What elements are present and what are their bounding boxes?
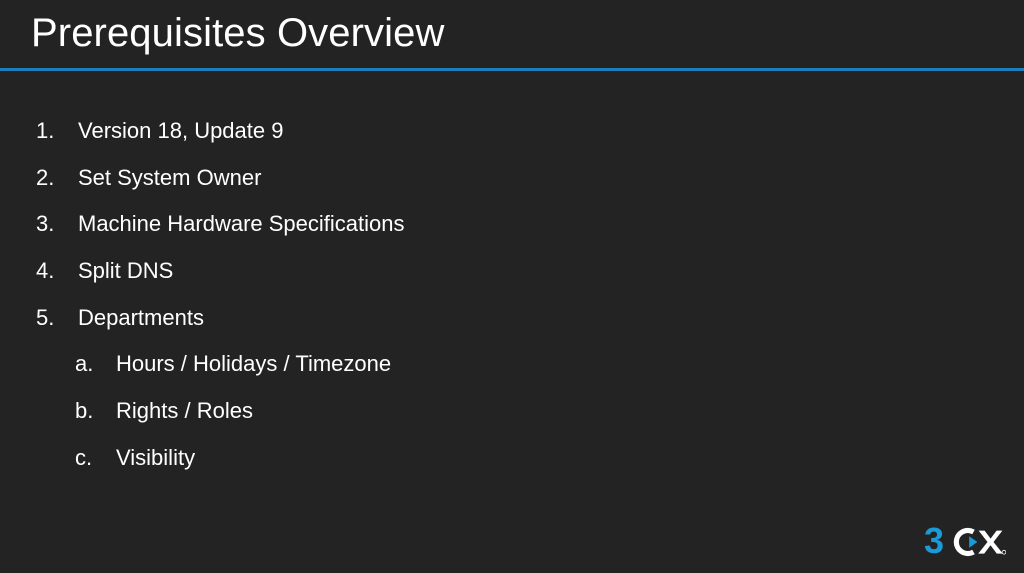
list-item-label: Set System Owner	[78, 165, 261, 191]
list-item-label: Visibility	[116, 445, 195, 471]
list-item-label: Departments	[78, 305, 204, 331]
list-item: 5. Departments	[0, 305, 1024, 352]
list-item-label: Machine Hardware Specifications	[78, 211, 405, 237]
list-item-marker: 2.	[36, 165, 78, 191]
list-item-marker: 5.	[36, 305, 78, 331]
list-item-label: Version 18, Update 9	[78, 118, 283, 144]
list-item: a. Hours / Holidays / Timezone	[0, 351, 1024, 398]
list-item: 1. Version 18, Update 9	[0, 118, 1024, 165]
list-item-marker: 4.	[36, 258, 78, 284]
list-item: c. Visibility	[0, 445, 1024, 492]
list-item-marker: a.	[75, 351, 116, 377]
3cx-logo: 3 3 C X ®	[924, 521, 1006, 561]
list-item-label: Rights / Roles	[116, 398, 253, 424]
title-divider	[0, 68, 1024, 71]
list-item: b. Rights / Roles	[0, 398, 1024, 445]
list-item-marker: b.	[75, 398, 116, 424]
list-item-marker: 1.	[36, 118, 78, 144]
logo-arrow-icon	[969, 536, 977, 548]
logo-letter-x	[978, 531, 1003, 554]
prerequisites-list: 1. Version 18, Update 9 2. Set System Ow…	[0, 118, 1024, 492]
list-item: 2. Set System Owner	[0, 165, 1024, 212]
3cx-logo-icon: 3	[924, 523, 1006, 561]
logo-digit-3: 3	[924, 523, 944, 561]
list-item: 3. Machine Hardware Specifications	[0, 211, 1024, 258]
list-item-marker: c.	[75, 445, 116, 471]
list-item-label: Split DNS	[78, 258, 173, 284]
slide: Prerequisites Overview 1. Version 18, Up…	[0, 0, 1024, 573]
logo-registered-icon	[1002, 550, 1006, 554]
list-item: 4. Split DNS	[0, 258, 1024, 305]
list-item-marker: 3.	[36, 211, 78, 237]
list-item-label: Hours / Holidays / Timezone	[116, 351, 391, 377]
slide-header: Prerequisites Overview	[0, 0, 1024, 71]
page-title: Prerequisites Overview	[31, 9, 444, 57]
